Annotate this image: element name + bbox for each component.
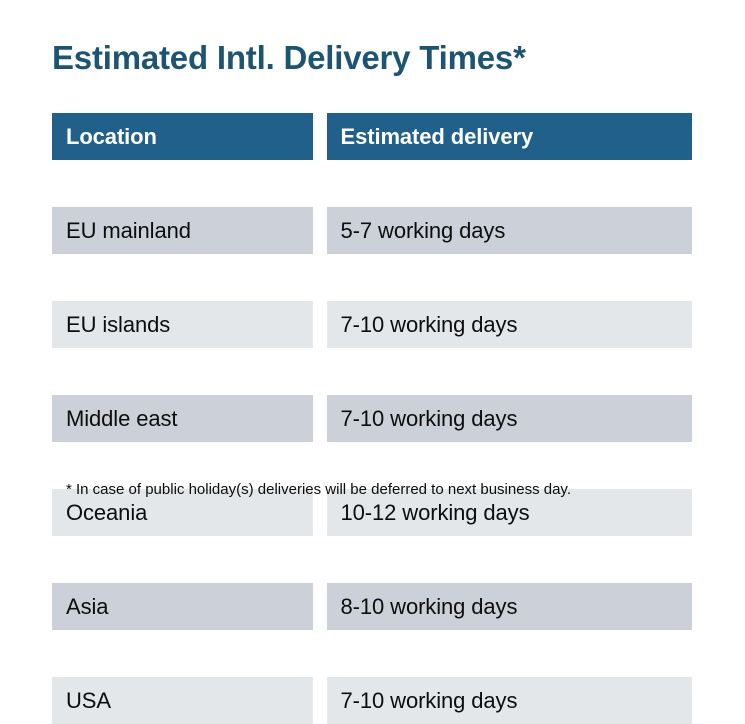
row-spacer-cell (327, 254, 692, 301)
column-header-estimated-delivery: Estimated delivery (327, 113, 692, 160)
row-spacer-cell (52, 630, 313, 677)
cell-gap (313, 583, 327, 630)
cell-location: EU islands (52, 301, 313, 348)
delivery-times-table: Location Estimated delivery EU mainland … (52, 113, 692, 724)
row-spacer-gap (313, 348, 327, 395)
row-spacer-cell (327, 630, 692, 677)
table-body: EU mainland 5-7 working days EU islands … (52, 160, 692, 724)
column-divider (313, 113, 327, 160)
row-spacer-gap (313, 160, 327, 207)
cell-estimated-delivery: 7-10 working days (327, 395, 692, 442)
table-row: EU islands 7-10 working days (52, 301, 692, 348)
row-spacer (52, 630, 692, 677)
column-header-location: Location (52, 113, 313, 160)
cell-estimated-delivery: 7-10 working days (327, 301, 692, 348)
row-spacer-gap (313, 536, 327, 583)
table-header-row: Location Estimated delivery (52, 113, 692, 160)
table-row: USA 7-10 working days (52, 677, 692, 724)
page-title: Estimated Intl. Delivery Times* (52, 36, 526, 80)
cell-estimated-delivery: 7-10 working days (327, 677, 692, 724)
row-spacer-cell (52, 348, 313, 395)
row-spacer-gap (313, 254, 327, 301)
cell-location: EU mainland (52, 207, 313, 254)
row-spacer (52, 536, 692, 583)
row-spacer-cell (327, 160, 692, 207)
cell-location: Asia (52, 583, 313, 630)
cell-estimated-delivery: 8-10 working days (327, 583, 692, 630)
table-row: EU mainland 5-7 working days (52, 207, 692, 254)
cell-location: USA (52, 677, 313, 724)
table-header: Location Estimated delivery (52, 113, 692, 160)
cell-gap (313, 207, 327, 254)
row-spacer (52, 348, 692, 395)
cell-gap (313, 395, 327, 442)
cell-location: Middle east (52, 395, 313, 442)
cell-gap (313, 301, 327, 348)
row-spacer (52, 254, 692, 301)
row-spacer-cell (52, 160, 313, 207)
table-row: Asia 8-10 working days (52, 583, 692, 630)
cell-gap (313, 677, 327, 724)
row-spacer (52, 160, 692, 207)
footnote: * In case of public holiday(s) deliverie… (66, 479, 571, 501)
table-row: Middle east 7-10 working days (52, 395, 692, 442)
cell-estimated-delivery: 5-7 working days (327, 207, 692, 254)
row-spacer-cell (327, 536, 692, 583)
delivery-times-page: Estimated Intl. Delivery Times* Location… (0, 0, 745, 536)
row-spacer-cell (327, 348, 692, 395)
row-spacer-cell (52, 536, 313, 583)
row-spacer-gap (313, 630, 327, 677)
row-spacer-cell (52, 254, 313, 301)
